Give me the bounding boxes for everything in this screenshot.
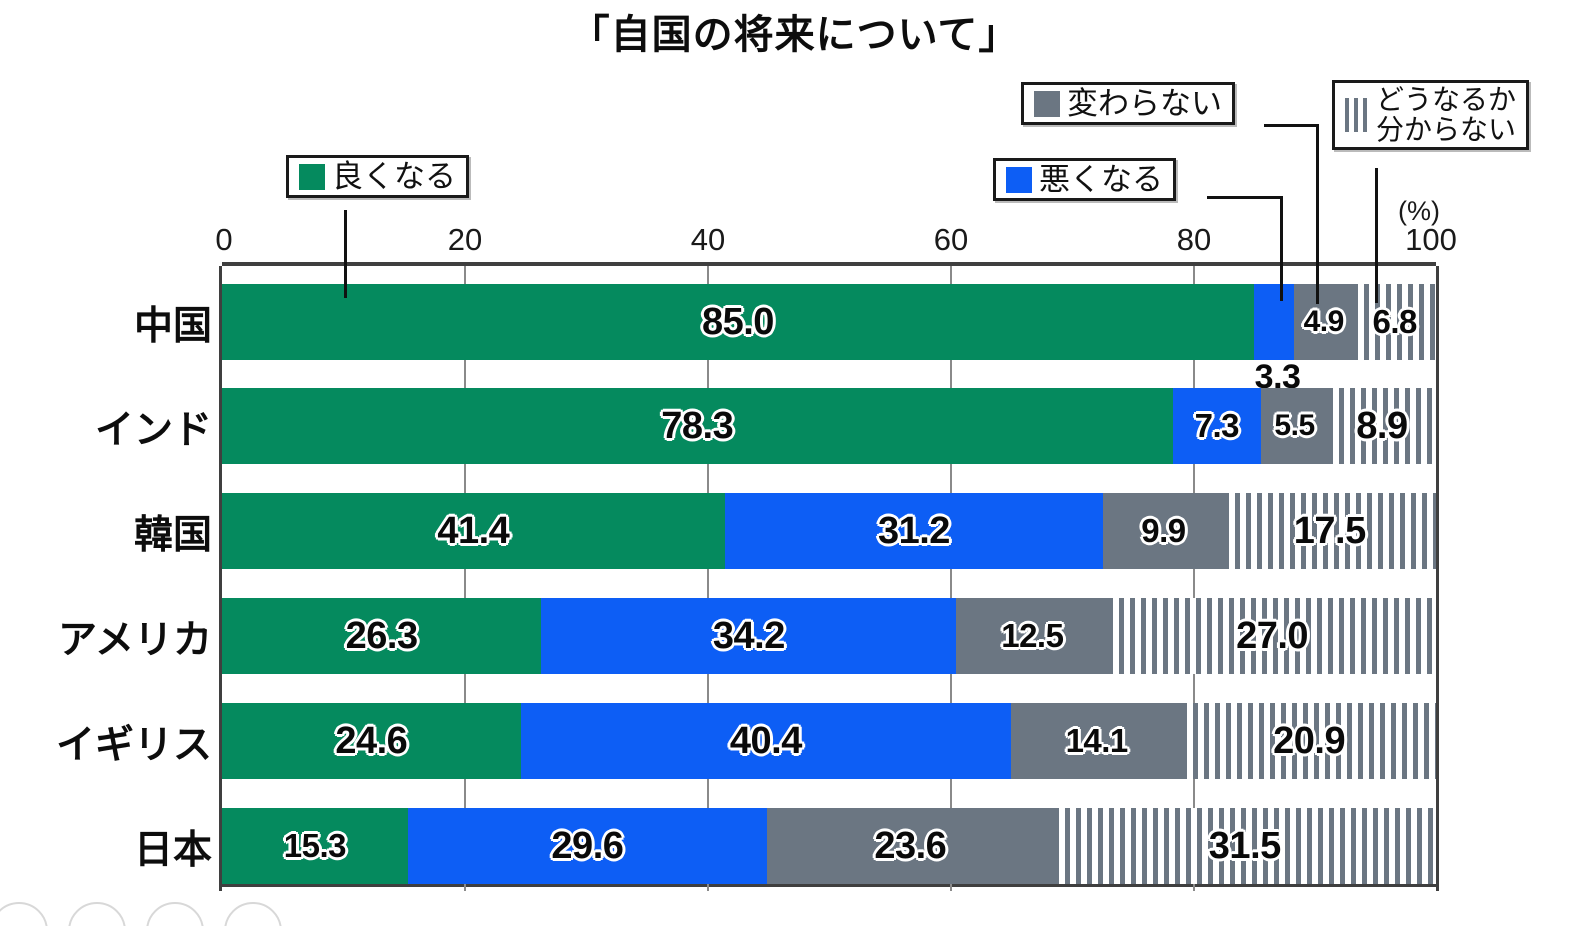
leader-line-same-h xyxy=(1264,124,1319,127)
segment-bad[interactable]: 31.2 xyxy=(725,493,1104,569)
segment-same[interactable]: 23.6 xyxy=(767,808,1054,884)
decorative-circle xyxy=(146,902,204,926)
bar-track: 41.4 31.2 9.9 17.5 xyxy=(222,493,1436,569)
value-good: 78.3 xyxy=(661,405,733,448)
segment-bad[interactable]: 7.3 xyxy=(1173,388,1262,464)
segment-good[interactable]: 41.4 xyxy=(222,493,725,569)
leader-line-bad-h xyxy=(1207,196,1283,199)
segment-unknown[interactable]: 8.9 xyxy=(1328,388,1436,464)
page-title: 「自国の将来について」 xyxy=(0,2,1589,60)
decorative-circles xyxy=(0,902,282,926)
value-unknown: 27.0 xyxy=(1236,615,1308,658)
axis-tick-100: 100 xyxy=(1405,222,1457,258)
gray-square-icon xyxy=(1034,91,1060,117)
blue-square-icon xyxy=(1006,167,1032,193)
value-good: 41.4 xyxy=(437,510,509,553)
value-same: 12.5 xyxy=(1001,617,1063,655)
segment-bad[interactable]: 40.4 xyxy=(521,703,1011,779)
value-same: 5.5 xyxy=(1274,409,1314,443)
axis-tick-80: 80 xyxy=(1177,222,1211,258)
segment-same[interactable]: 5.5 xyxy=(1261,388,1328,464)
axis-tick-20: 20 xyxy=(448,222,482,258)
decorative-circle xyxy=(0,902,48,926)
category-label-uk: イギリス xyxy=(56,714,212,770)
legend-label-unknown-line2: 分からない xyxy=(1376,114,1516,145)
value-good: 85.0 xyxy=(702,301,774,344)
leader-line-bad-v xyxy=(1280,196,1283,301)
category-label-india: インド xyxy=(95,399,212,455)
axis-tick-40: 40 xyxy=(691,222,725,258)
table-row[interactable]: 15.3 29.6 23.6 31.5 xyxy=(222,808,1436,884)
legend-label-same: 変わらない xyxy=(1067,87,1222,120)
segment-good[interactable]: 85.0 xyxy=(222,284,1254,360)
segment-good[interactable]: 78.3 xyxy=(222,388,1173,464)
leader-line-same-v xyxy=(1316,124,1319,304)
segment-same[interactable]: 12.5 xyxy=(956,598,1108,674)
value-bad: 34.2 xyxy=(713,615,785,658)
bar-track: 15.3 29.6 23.6 31.5 xyxy=(222,808,1436,884)
legend-label-good: 良くなる xyxy=(332,160,456,193)
table-row[interactable]: 78.3 7.3 5.5 8.9 xyxy=(222,388,1436,464)
bar-track: 85.0 3.3 4.9 6.8 xyxy=(222,284,1436,360)
value-unknown: 6.8 xyxy=(1373,303,1417,341)
table-row[interactable]: 41.4 31.2 9.9 17.5 xyxy=(222,493,1436,569)
category-label-japan: 日本 xyxy=(134,819,212,875)
category-label-korea: 韓国 xyxy=(134,504,212,560)
leader-line-unknown-v xyxy=(1375,168,1378,303)
legend-label-unknown-line1: どうなるか xyxy=(1376,84,1516,115)
segment-unknown[interactable]: 31.5 xyxy=(1054,808,1436,884)
segment-bad[interactable]: 34.2 xyxy=(541,598,956,674)
value-bad: 40.4 xyxy=(730,720,802,763)
table-row[interactable]: 26.3 34.2 12.5 27.0 xyxy=(222,598,1436,674)
segment-unknown[interactable]: 6.8 xyxy=(1353,284,1436,360)
category-label-usa: アメリカ xyxy=(58,609,212,665)
table-row[interactable]: 24.6 40.4 14.1 20.9 xyxy=(222,703,1436,779)
value-same: 14.1 xyxy=(1066,722,1128,760)
bar-track: 26.3 34.2 12.5 27.0 xyxy=(222,598,1436,674)
value-unknown: 17.5 xyxy=(1294,510,1366,553)
legend-label-bad: 悪くなる xyxy=(1039,163,1163,196)
chart-page: 「自国の将来について」 良くなる 悪くなる 変わらない どうなるか 分からない … xyxy=(0,0,1589,926)
leader-line-good xyxy=(344,210,347,298)
value-unknown: 31.5 xyxy=(1209,825,1281,868)
striped-square-icon xyxy=(1345,98,1367,132)
legend-label-unknown: どうなるか 分からない xyxy=(1376,85,1516,145)
plot-area: 85.0 3.3 4.9 6.8 78.3 7.3 xyxy=(222,262,1436,887)
segment-bad[interactable]: 29.6 xyxy=(408,808,767,884)
value-unknown: 20.9 xyxy=(1273,720,1345,763)
bar-track: 78.3 7.3 5.5 8.9 xyxy=(222,388,1436,464)
value-bad: 31.2 xyxy=(878,510,950,553)
axis-right-edge xyxy=(1436,266,1439,891)
axis-tick-0: 0 xyxy=(215,222,232,258)
segment-good[interactable]: 15.3 xyxy=(222,808,408,884)
value-good: 15.3 xyxy=(284,827,346,865)
legend-item-bad[interactable]: 悪くなる xyxy=(993,158,1176,201)
table-row[interactable]: 85.0 3.3 4.9 6.8 xyxy=(222,284,1436,360)
value-good: 26.3 xyxy=(346,615,418,658)
value-same: 9.9 xyxy=(1141,512,1185,550)
value-unknown: 8.9 xyxy=(1356,405,1407,448)
value-good: 24.6 xyxy=(335,720,407,763)
segment-unknown[interactable]: 27.0 xyxy=(1108,598,1436,674)
segment-bad[interactable]: 3.3 xyxy=(1254,284,1294,360)
decorative-circle xyxy=(224,902,282,926)
legend-item-same[interactable]: 変わらない xyxy=(1021,82,1235,125)
segment-same[interactable]: 14.1 xyxy=(1011,703,1182,779)
segment-same[interactable]: 9.9 xyxy=(1103,493,1223,569)
value-same: 23.6 xyxy=(874,825,946,868)
legend-item-unknown[interactable]: どうなるか 分からない xyxy=(1332,80,1529,150)
segment-same[interactable]: 4.9 xyxy=(1294,284,1353,360)
legend-item-good[interactable]: 良くなる xyxy=(286,155,469,198)
segment-unknown[interactable]: 20.9 xyxy=(1182,703,1436,779)
bar-track: 24.6 40.4 14.1 20.9 xyxy=(222,703,1436,779)
green-square-icon xyxy=(299,164,325,190)
axis-left-edge xyxy=(219,266,222,891)
segment-good[interactable]: 26.3 xyxy=(222,598,541,674)
segment-good[interactable]: 24.6 xyxy=(222,703,521,779)
value-bad: 29.6 xyxy=(551,825,623,868)
decorative-circle xyxy=(68,902,126,926)
category-label-china: 中国 xyxy=(134,295,212,351)
axis-tick-60: 60 xyxy=(934,222,968,258)
value-same: 4.9 xyxy=(1304,305,1344,339)
value-bad: 7.3 xyxy=(1195,407,1239,445)
segment-unknown[interactable]: 17.5 xyxy=(1224,493,1436,569)
